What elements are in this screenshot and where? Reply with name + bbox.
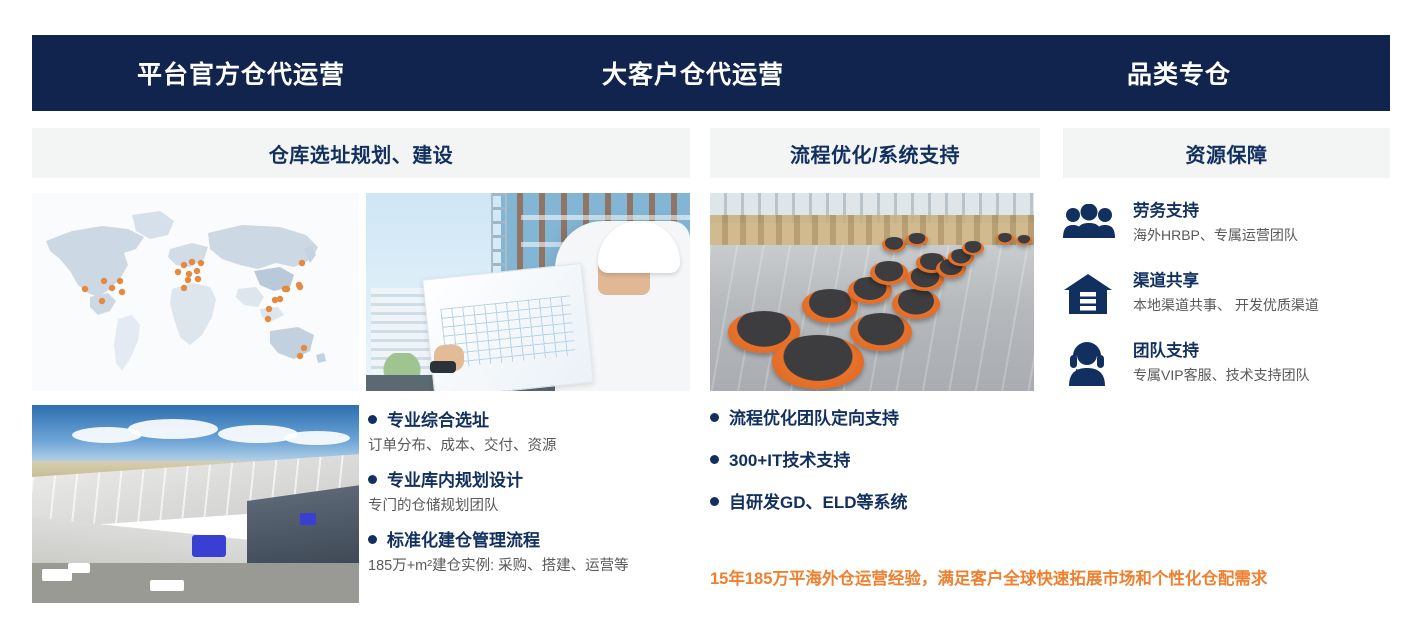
people-group-icon <box>1063 200 1119 248</box>
resource-subtitle: 专属VIP客服、技术支持团队 <box>1133 365 1310 385</box>
left-column-bullets: 专业综合选址 订单分布、成本、交付、资源 专业库内规划设计 专门的仓储规划团队 … <box>368 410 690 576</box>
bullet-subtitle: 185万+m²建仓实例: 采购、搭建、运营等 <box>368 556 690 576</box>
resource-title: 劳务支持 <box>1133 201 1298 222</box>
bullet-title-row: 流程优化团队定向支持 <box>710 408 1040 430</box>
section-header-label-2: 流程优化/系统支持 <box>790 139 960 168</box>
header-title-3: 品类专仓 <box>1127 55 1231 91</box>
bullet-item: 专业库内规划设计 专门的仓储规划团队 <box>368 470 690 516</box>
resource-title: 团队支持 <box>1133 341 1310 362</box>
bullet-title-row: 专业综合选址 <box>368 410 690 432</box>
resource-subtitle: 海外HRBP、专属运营团队 <box>1133 225 1298 245</box>
resource-item-channel-sharing: 渠道共享 本地渠道共事、 开发优质渠道 <box>1063 270 1393 318</box>
world-map-image <box>32 193 359 391</box>
warehouse-building-icon <box>1063 270 1119 318</box>
resource-title: 渠道共享 <box>1133 271 1319 292</box>
bullet-dot-icon <box>710 497 719 506</box>
resource-text: 渠道共享 本地渠道共事、 开发优质渠道 <box>1133 270 1319 315</box>
bullet-title: 300+IT技术支持 <box>729 450 850 472</box>
section-header-warehouse-siting: 仓库选址规划、建设 <box>32 128 690 178</box>
section-header-resource-guarantee: 资源保障 <box>1063 128 1390 178</box>
bullet-item: 自研发GD、ELD等系统 <box>710 492 1040 514</box>
resource-item-labor-support: 劳务支持 海外HRBP、专属运营团队 <box>1063 200 1393 248</box>
header-bar: 平台官方仓代运营 大客户仓代运营 品类专仓 <box>32 35 1390 111</box>
bullet-title-row: 标准化建仓管理流程 <box>368 530 690 552</box>
bullet-item: 300+IT技术支持 <box>710 450 1040 472</box>
bullet-title: 专业综合选址 <box>387 410 489 432</box>
resource-text: 团队支持 专属VIP客服、技术支持团队 <box>1133 340 1310 385</box>
bullet-dot-icon <box>710 413 719 422</box>
resource-guarantee-list: 劳务支持 海外HRBP、专属运营团队 渠道共享 <box>1063 200 1393 388</box>
world-map-svg <box>32 193 359 391</box>
aerial-warehouse-image <box>32 405 359 603</box>
section-header-process-optimization: 流程优化/系统支持 <box>710 128 1040 178</box>
bullet-dot-icon <box>368 475 377 484</box>
section-header-label-3: 资源保障 <box>1186 139 1268 168</box>
section-header-label-1: 仓库选址规划、建设 <box>269 139 454 168</box>
warehouse-robots-image <box>710 193 1034 391</box>
header-title-1: 平台官方仓代运营 <box>137 55 345 91</box>
header-title-2: 大客户仓代运营 <box>602 55 784 91</box>
bullet-title: 自研发GD、ELD等系统 <box>729 492 908 514</box>
resource-subtitle: 本地渠道共事、 开发优质渠道 <box>1133 295 1319 315</box>
engineer-blueprint-image <box>366 193 690 391</box>
headset-support-agent-icon <box>1063 340 1119 388</box>
bullet-item: 专业综合选址 订单分布、成本、交付、资源 <box>368 410 690 456</box>
resource-text: 劳务支持 海外HRBP、专属运营团队 <box>1133 200 1298 245</box>
bullet-item: 流程优化团队定向支持 <box>710 408 1040 430</box>
middle-column-bullets: 流程优化团队定向支持 300+IT技术支持 自研发GD、ELD等系统 <box>710 408 1040 534</box>
bullet-title: 专业库内规划设计 <box>387 470 523 492</box>
bullet-title: 标准化建仓管理流程 <box>387 530 540 552</box>
bullet-item: 标准化建仓管理流程 185万+m²建仓实例: 采购、搭建、运营等 <box>368 530 690 576</box>
bullet-dot-icon <box>368 415 377 424</box>
bullet-dot-icon <box>710 455 719 464</box>
bullet-title-row: 300+IT技术支持 <box>710 450 1040 472</box>
bullet-subtitle: 专门的仓储规划团队 <box>368 496 690 516</box>
footer-highlight-note: 15年185万平海外仓运营经验，满足客户全球快速拓展市场和个性化仓配需求 <box>710 568 1400 590</box>
resource-item-team-support: 团队支持 专属VIP客服、技术支持团队 <box>1063 340 1393 388</box>
bullet-title-row: 自研发GD、ELD等系统 <box>710 492 1040 514</box>
slide-root: 平台官方仓代运营 大客户仓代运营 品类专仓 仓库选址规划、建设 流程优化/系统支… <box>0 0 1422 641</box>
bullet-title-row: 专业库内规划设计 <box>368 470 690 492</box>
bullet-title: 流程优化团队定向支持 <box>729 408 899 430</box>
bullet-dot-icon <box>368 535 377 544</box>
bullet-subtitle: 订单分布、成本、交付、资源 <box>368 436 690 456</box>
